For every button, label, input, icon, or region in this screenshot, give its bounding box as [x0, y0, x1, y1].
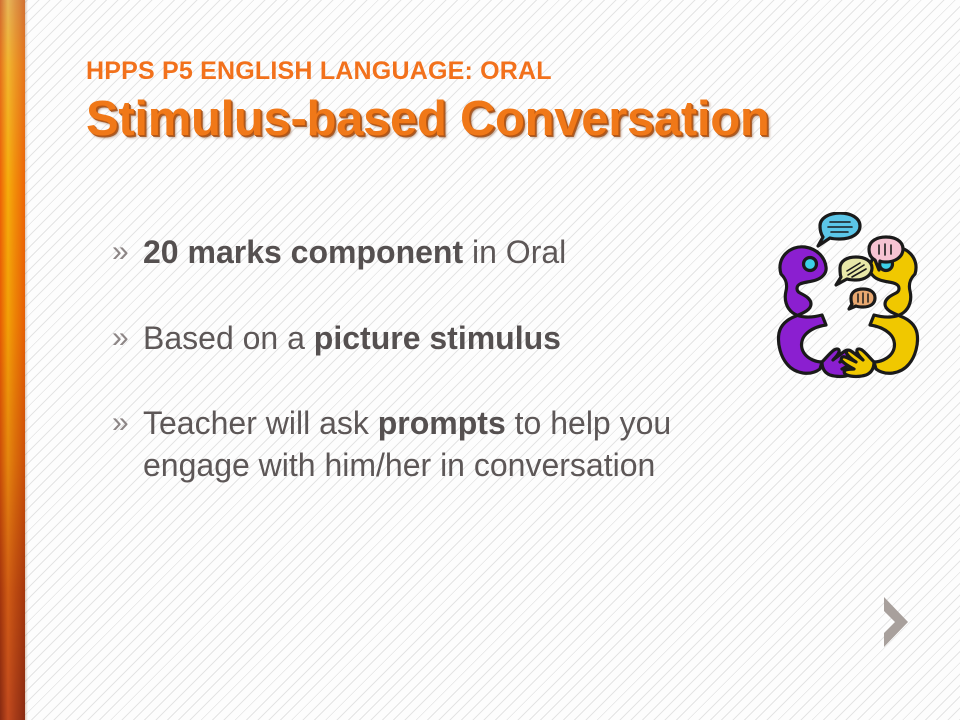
bullet-item: »20 marks component in Oral	[112, 232, 752, 274]
blue-speech-bubble	[818, 213, 860, 246]
orange-speech-bubble	[849, 289, 875, 309]
bullet-text-emphasis: 20 marks component	[143, 234, 463, 270]
next-slide-chevron-icon[interactable]	[878, 594, 914, 650]
bullet-item: »Based on a picture stimulus	[112, 318, 752, 360]
bullet-text-emphasis: picture stimulus	[314, 320, 561, 356]
bullet-list: »20 marks component in Oral»Based on a p…	[112, 232, 752, 530]
bullet-text: Teacher will ask prompts to help you eng…	[143, 403, 752, 486]
bullet-item: »Teacher will ask prompts to help you en…	[112, 403, 752, 486]
bullet-marker-icon: »	[112, 232, 143, 272]
bullet-text-segment: Based on a	[143, 320, 314, 356]
slide-title: Stimulus-based Conversation	[86, 92, 886, 147]
yellow-figure-hand	[841, 349, 874, 377]
bullet-marker-icon: »	[112, 318, 143, 358]
bullet-text-segment: in Oral	[463, 234, 566, 270]
left-accent-bar	[0, 0, 25, 720]
bullet-marker-icon: »	[112, 403, 143, 443]
title-block: HPPS P5 ENGLISH LANGUAGE: ORAL Stimulus-…	[86, 58, 886, 146]
bullet-text-emphasis: prompts	[378, 405, 506, 441]
two-people-conversation-illustration	[748, 212, 948, 402]
bullet-text-segment: Teacher will ask	[143, 405, 378, 441]
left-accent-bar-shadow	[25, 0, 28, 720]
purple-figure-eye	[804, 258, 817, 271]
slide-eyebrow-heading: HPPS P5 ENGLISH LANGUAGE: ORAL	[86, 58, 886, 86]
bullet-text: 20 marks component in Oral	[143, 232, 752, 274]
slide-canvas: HPPS P5 ENGLISH LANGUAGE: ORAL Stimulus-…	[0, 0, 960, 720]
bullet-text: Based on a picture stimulus	[143, 318, 752, 360]
